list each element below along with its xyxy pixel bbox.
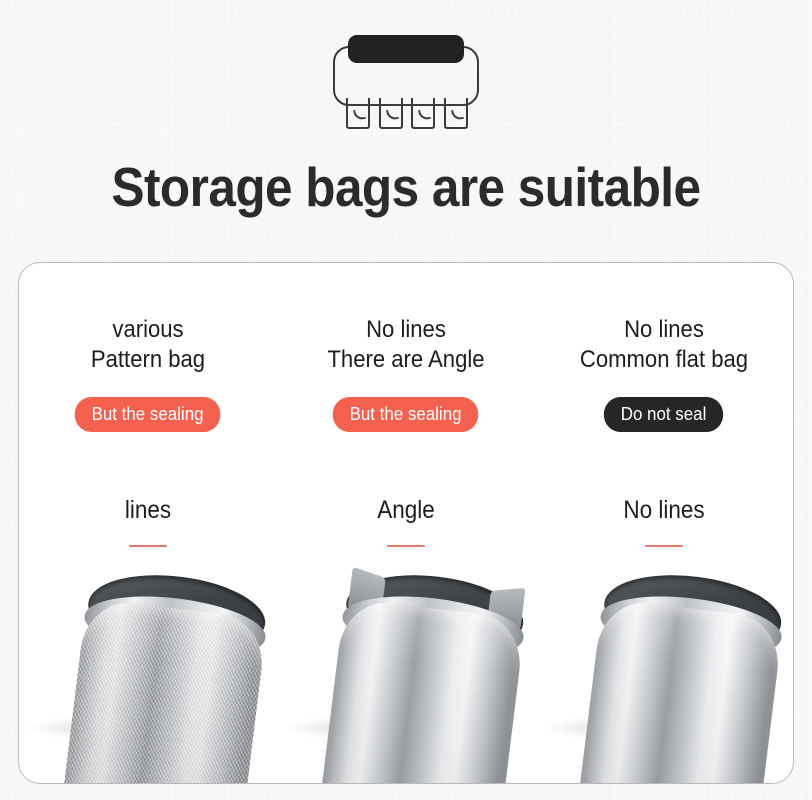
column-heading: various Pattern bag [29, 315, 266, 375]
column-heading-line2: Pattern bag [29, 345, 266, 375]
gusseted-angle-bag [319, 564, 530, 784]
bag-body [61, 598, 268, 784]
bag-column-pattern: various Pattern bag But the sealing line… [19, 263, 277, 783]
bag-feature-label: lines [32, 495, 264, 525]
column-heading-line2: There are Angle [287, 345, 524, 375]
status-badge: But the sealing [333, 397, 479, 432]
page-background: Storage bags are suitable various Patter… [0, 0, 812, 800]
column-heading-line1: No lines [545, 315, 782, 345]
sealer-prong-4 [444, 98, 468, 129]
badge-row: Do not seal [535, 397, 793, 432]
sealer-prongs-group [346, 98, 468, 130]
status-badge: But the sealing [75, 397, 221, 432]
status-badge: Do not seal [604, 397, 723, 432]
badge-row: But the sealing [277, 397, 535, 432]
bag-body [577, 598, 784, 784]
label-underline [645, 545, 683, 547]
header-icon-area [0, 28, 812, 128]
vacuum-sealer-icon [321, 28, 491, 128]
sealer-heat-bar [348, 35, 464, 63]
comparison-columns: various Pattern bag But the sealing line… [19, 263, 793, 783]
column-heading: No lines Common flat bag [545, 315, 782, 375]
bag-column-flat: No lines Common flat bag Do not seal No … [535, 263, 793, 783]
bag-body [319, 598, 526, 784]
common-flat-bag [577, 564, 788, 784]
sealer-prong-3 [411, 98, 435, 129]
bag-column-angle: No lines There are Angle But the sealing… [277, 263, 535, 783]
sealer-prong-2 [379, 98, 403, 129]
patterned-embossed-bag [61, 564, 272, 784]
comparison-card: various Pattern bag But the sealing line… [18, 262, 794, 784]
label-underline [129, 545, 167, 547]
page-title: Storage bags are suitable [41, 155, 772, 219]
label-underline [387, 545, 425, 547]
column-heading-line1: various [29, 315, 266, 345]
badge-row: But the sealing [19, 397, 277, 432]
column-heading: No lines There are Angle [287, 315, 524, 375]
column-heading-line2: Common flat bag [545, 345, 782, 375]
column-heading-line1: No lines [287, 315, 524, 345]
sealer-prong-1 [346, 98, 370, 129]
bag-feature-label: No lines [548, 495, 780, 525]
bag-feature-label: Angle [290, 495, 522, 525]
